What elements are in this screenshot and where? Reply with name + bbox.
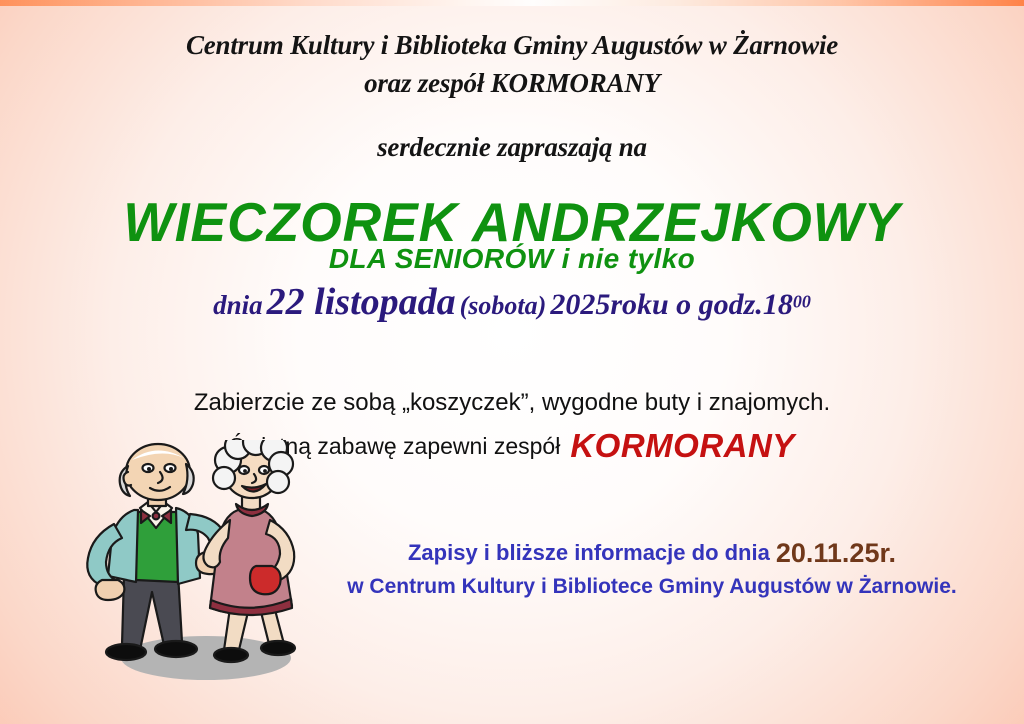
date-prefix: dnia [213,290,263,320]
woman-right-pupil [263,469,267,473]
signup-deadline: 20.11.25r. [776,538,896,568]
date-weekday: (sobota) [460,291,547,320]
date-year-time: 2025roku o godz.18 [550,288,793,321]
man-right-pupil [169,467,173,471]
woman-figure [203,440,295,662]
man-left-pupil [147,467,151,471]
event-subtitle: DLA SENIORÓW i nie tylko [0,243,1024,275]
bring-with-you-text: Zabierzcie ze sobą „koszyczek”, wygodne … [0,389,1024,417]
woman-handbag [250,566,281,594]
invitation-line: serdecznie zapraszają na [0,132,1024,163]
man-left-shoe [106,644,146,660]
top-edge-strip [0,0,1024,6]
organizer-line-1: Centrum Kultury i Biblioteka Gminy Augus… [0,30,1024,61]
man-bowtie-knot [153,513,160,520]
event-date-line: dnia 22 listopada (sobota) 2025roku o go… [0,283,1024,321]
signup-label: Zapisy i bliższe informacje do dnia [408,540,770,565]
organizer-line-2: oraz zespół KORMORANY [0,68,1024,99]
man-trousers [122,573,182,650]
woman-left-shoe [214,648,248,662]
woman-right-shoe [261,641,295,655]
poster-canvas: Centrum Kultury i Biblioteka Gminy Augus… [0,0,1024,724]
woman-left-pupil [243,469,247,473]
man-right-shoe [155,641,197,657]
dancing-senior-couple-illustration [78,440,328,690]
date-minutes-superscript: 00 [793,292,811,312]
band-name: KORMORANY [570,427,795,464]
man-left-hand [96,580,125,600]
date-day-month: 22 listopada [267,281,456,323]
